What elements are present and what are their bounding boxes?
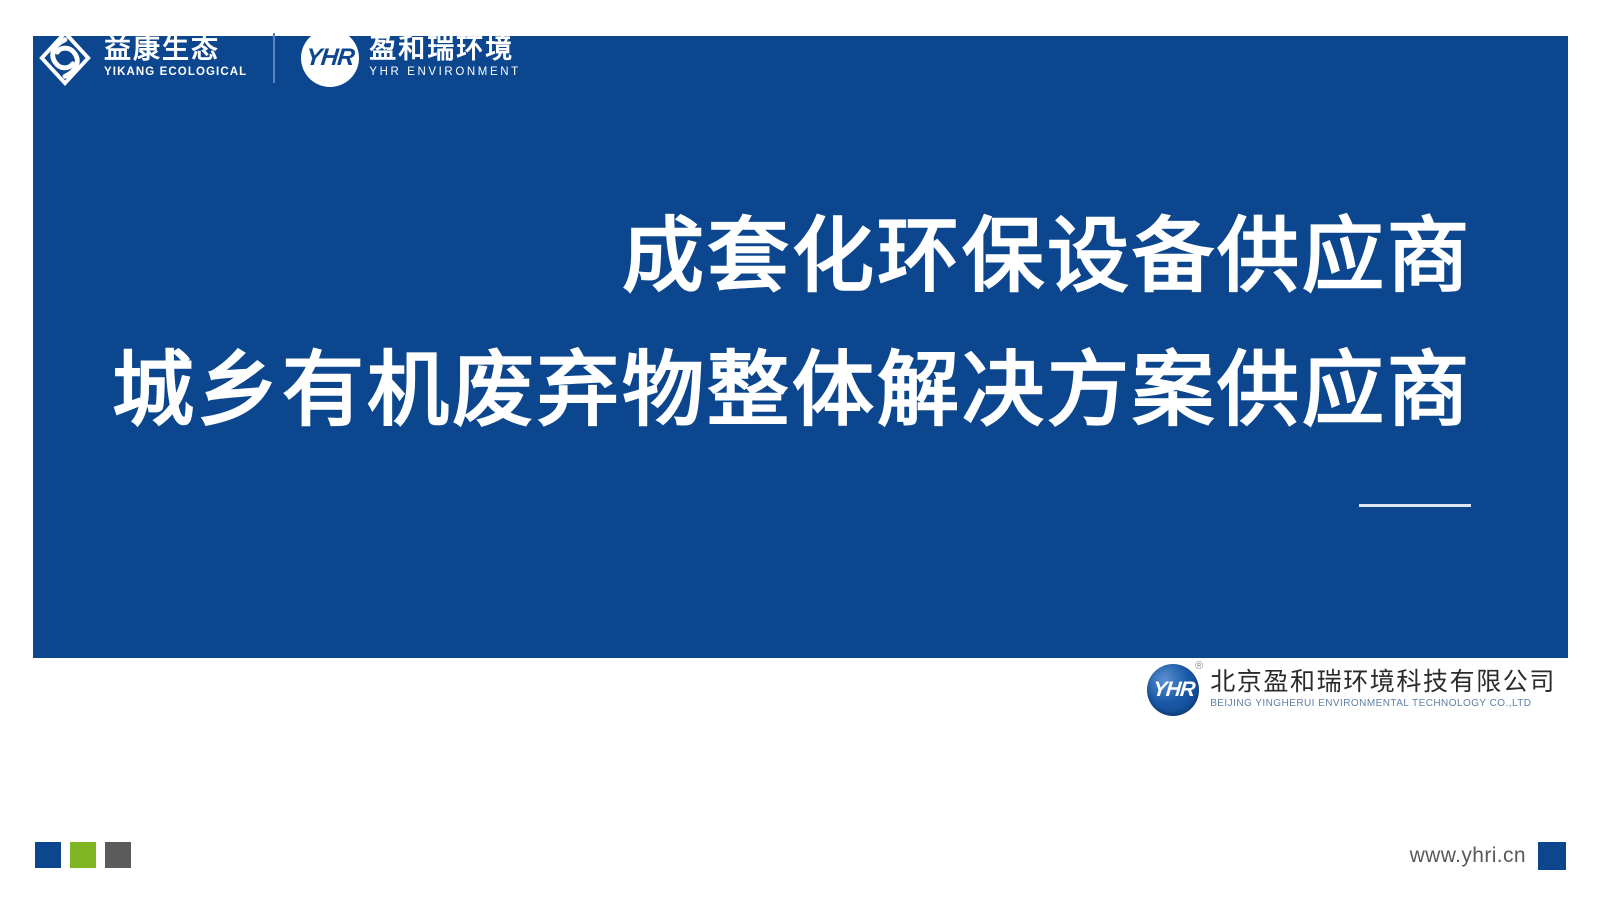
footer-color-swatches bbox=[35, 842, 131, 868]
brand-yikang: ® 益康生态 YIKANG ECOLOGICAL bbox=[36, 26, 247, 90]
vertical-divider-icon bbox=[273, 33, 275, 83]
brand-yikang-text: 益康生态 YIKANG ECOLOGICAL bbox=[104, 35, 247, 81]
brand-yhr-text: 盈和瑞环境 YHR ENVIRONMENT bbox=[369, 35, 520, 81]
brand-yikang-name-en: YIKANG ECOLOGICAL bbox=[104, 64, 247, 81]
slide-canvas: ® 益康生态 YIKANG ECOLOGICAL YHR ® 盈和瑞环境 YHR… bbox=[0, 0, 1600, 898]
brand-yikang-name-cn: 益康生态 bbox=[104, 35, 247, 63]
footer-end-square-icon bbox=[1538, 842, 1566, 870]
company-name-en: BEIJING YINGHERUI ENVIRONMENTAL TECHNOLO… bbox=[1210, 696, 1556, 712]
registered-trademark-icon: ® bbox=[92, 27, 100, 38]
footer-website-row: www.yhri.cn bbox=[1410, 842, 1566, 870]
swatch-blue bbox=[35, 842, 61, 868]
company-name-cn: 北京盈和瑞环境科技有限公司 bbox=[1210, 668, 1556, 697]
yhr-circle-logo-icon: YHR ® bbox=[301, 29, 359, 87]
headline-line-2: 城乡有机废弃物整体解决方案供应商 bbox=[33, 350, 1568, 432]
website-url[interactable]: www.yhri.cn bbox=[1410, 844, 1526, 868]
headline-underline-rule bbox=[1359, 504, 1471, 507]
brand-yhr-name-cn: 盈和瑞环境 bbox=[369, 35, 520, 63]
headline-line-1: 成套化环保设备供应商 bbox=[33, 216, 1568, 298]
yhr-globe-logo-icon: YHR ® bbox=[1147, 664, 1199, 716]
brand-yhr: YHR ® 盈和瑞环境 YHR ENVIRONMENT bbox=[301, 26, 520, 90]
yhr-circle-shape: YHR bbox=[301, 29, 359, 87]
company-text-block: 北京盈和瑞环境科技有限公司 BEIJING YINGHERUI ENVIRONM… bbox=[1210, 668, 1556, 713]
registered-trademark-icon: ® bbox=[358, 28, 366, 39]
yhr-monogram-letters: YHR bbox=[305, 44, 356, 72]
brand-yhr-name-en: YHR ENVIRONMENT bbox=[369, 64, 520, 81]
swatch-green bbox=[70, 842, 96, 868]
yhr-monogram-letters: YHR bbox=[1151, 678, 1195, 702]
swatch-gray bbox=[105, 842, 131, 868]
registered-trademark-icon: ® bbox=[1195, 661, 1203, 672]
header-logo-lockup: ® 益康生态 YIKANG ECOLOGICAL YHR ® 盈和瑞环境 YHR… bbox=[36, 26, 521, 90]
company-signature: YHR ® 北京盈和瑞环境科技有限公司 BEIJING YINGHERUI EN… bbox=[1147, 664, 1556, 716]
yikang-swirl-logo-icon: ® bbox=[36, 29, 94, 87]
